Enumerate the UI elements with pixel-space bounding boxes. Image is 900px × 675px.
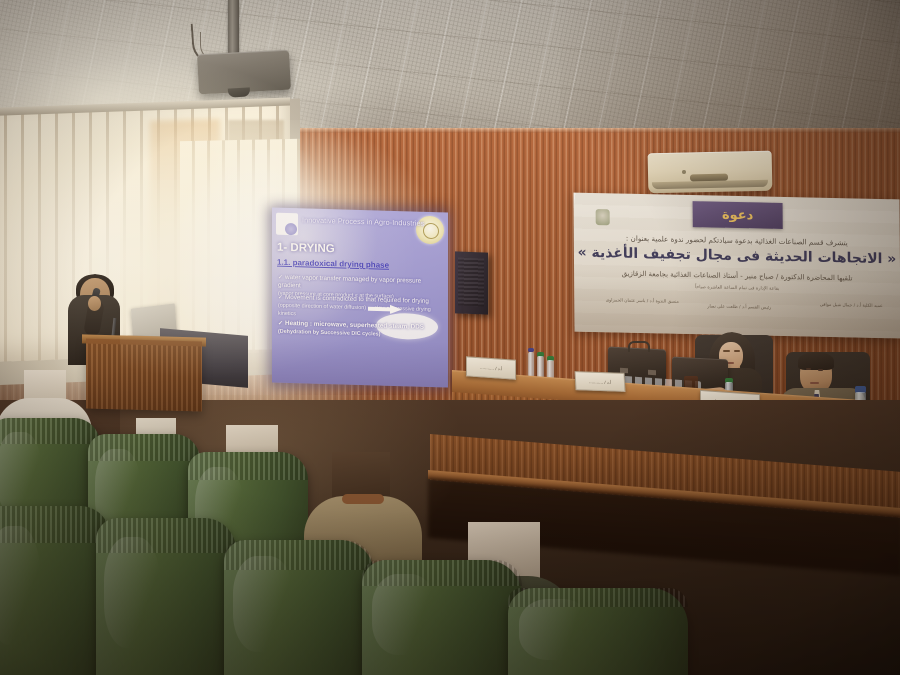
photo-scene: دعوة يتشرف قسم الصناعات الغذائية بدعوة س… xyxy=(0,0,900,675)
vignette xyxy=(0,0,900,675)
